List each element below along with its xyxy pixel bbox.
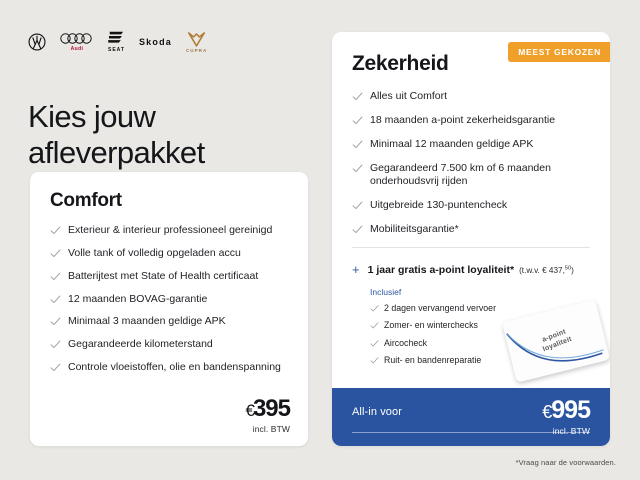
list-item-label: Gegarandeerd 7.500 km of 6 maanden onder… xyxy=(370,162,590,190)
list-item-label: Volle tank of volledig opgeladen accu xyxy=(68,247,241,261)
card-divider xyxy=(352,247,590,248)
zekerheid-price: €995 xyxy=(542,398,590,423)
zekerheid-currency-symbol: € xyxy=(542,402,551,422)
list-item: 18 maanden a-point zekerheidsgarantie xyxy=(352,114,590,128)
check-icon xyxy=(352,224,362,234)
check-icon xyxy=(352,139,362,149)
loyalty-value: (t.w.v. € 437,50) xyxy=(519,266,574,275)
cupra-wordmark: CUPRA xyxy=(186,48,207,53)
check-icon xyxy=(50,294,60,304)
loyalty-value-prefix: (t.w.v. € 437, xyxy=(519,266,565,275)
comfort-title: Comfort xyxy=(50,190,288,212)
brand-logo-cupra: CUPRA xyxy=(186,32,207,53)
list-item: Minimaal 12 maanden geldige APK xyxy=(352,138,590,152)
check-icon xyxy=(370,321,378,329)
list-item: Volle tank of volledig opgeladen accu xyxy=(50,247,288,261)
package-card-comfort[interactable]: Comfort Exterieur & interieur profession… xyxy=(30,172,308,446)
loyalty-included-label: Inclusief xyxy=(370,287,590,297)
loyalty-addon-row: + 1 jaar gratis a-point loyaliteit*(t.w.… xyxy=(332,260,610,278)
audi-rings-logo xyxy=(60,32,94,45)
allin-label: All-in voor xyxy=(352,406,402,418)
list-item-label: Zomer- en winterchecks xyxy=(384,320,478,331)
list-item: Minimaal 3 maanden geldige APK xyxy=(50,315,288,329)
audi-wordmark: Audi xyxy=(71,46,84,52)
comfort-card-body: Comfort Exterieur & interieur profession… xyxy=(30,172,308,375)
list-item-label: Ruit- en bandenreparatie xyxy=(384,355,481,366)
list-item-label: Mobiliteitsgarantie* xyxy=(370,223,459,237)
list-item: 12 maanden BOVAG-garantie xyxy=(50,293,288,307)
comfort-vat-note: incl. BTW xyxy=(245,424,290,434)
check-icon xyxy=(50,225,60,235)
check-icon xyxy=(352,163,362,173)
check-icon xyxy=(370,339,378,347)
package-card-zekerheid[interactable]: MEEST GEKOZEN Zekerheid Alles uit Comfor… xyxy=(332,32,610,446)
list-item: Ruit- en bandenreparatie xyxy=(370,355,590,366)
list-item: Alles uit Comfort xyxy=(352,90,590,104)
list-item: Gegarandeerd 7.500 km of 6 maanden onder… xyxy=(352,162,590,190)
list-item-label: Aircocheck xyxy=(384,338,427,349)
list-item-label: 12 maanden BOVAG-garantie xyxy=(68,293,207,307)
loyalty-title: 1 jaar gratis a-point loyaliteit* xyxy=(368,264,514,276)
check-icon xyxy=(50,362,60,372)
comfort-price: €395 xyxy=(245,397,290,421)
list-item: Mobiliteitsgarantie* xyxy=(352,223,590,237)
list-item: 2 dagen vervangend vervoer xyxy=(370,303,590,314)
list-item: Exterieur & interieur professioneel gere… xyxy=(50,224,288,238)
list-item: Aircocheck xyxy=(370,338,590,349)
brand-logo-audi: Audi xyxy=(60,32,94,52)
list-item-label: Alles uit Comfort xyxy=(370,90,447,104)
comfort-price-value: 395 xyxy=(253,395,290,422)
check-icon xyxy=(50,316,60,326)
check-icon xyxy=(370,304,378,312)
delivery-package-page: Audi SEAT Skoda xyxy=(0,0,640,480)
check-icon xyxy=(352,115,362,125)
check-icon xyxy=(50,271,60,281)
list-item: Batterijtest met State of Health certifi… xyxy=(50,270,288,284)
list-item: Gegarandeerde kilometerstand xyxy=(50,338,288,352)
list-item-label: 2 dagen vervangend vervoer xyxy=(384,303,496,314)
zekerheid-price-block: €995 incl. BTW xyxy=(542,398,590,436)
check-icon xyxy=(352,91,362,101)
list-item: Uitgebreide 130-puntencheck xyxy=(352,199,590,213)
status-badge-meest-gekozen: MEEST GEKOZEN xyxy=(508,42,610,62)
seat-s-logo xyxy=(108,31,124,46)
loyalty-addon-text: 1 jaar gratis a-point loyaliteit*(t.w.v.… xyxy=(368,260,574,278)
list-item-label: Batterijtest met State of Health certifi… xyxy=(68,270,258,284)
loyalty-included-block: Inclusief 2 dagen vervangend vervoerZome… xyxy=(332,278,610,367)
loyalty-value-suffix: ) xyxy=(571,266,574,275)
list-item-label: Gegarandeerde kilometerstand xyxy=(68,338,213,352)
skoda-wordmark-logo: Skoda xyxy=(139,37,172,47)
seat-wordmark: SEAT xyxy=(108,47,125,53)
list-item-label: Uitgebreide 130-puntencheck xyxy=(370,199,507,213)
check-icon xyxy=(50,339,60,349)
list-item-label: Minimaal 12 maanden geldige APK xyxy=(370,138,533,152)
cupra-logo xyxy=(188,32,205,47)
allin-price-bar: All-in voor €995 incl. BTW xyxy=(332,388,610,446)
footnote-terms: *Vraag naar de voorwaarden. xyxy=(516,458,616,467)
comfort-feature-list: Exterieur & interieur professioneel gere… xyxy=(50,224,288,375)
brand-logo-volkswagen xyxy=(28,33,46,51)
check-icon xyxy=(370,356,378,364)
plus-icon: + xyxy=(352,263,360,276)
zekerheid-price-value: 995 xyxy=(551,396,590,424)
list-item-label: Exterieur & interieur professioneel gere… xyxy=(68,224,272,238)
list-item: Zomer- en winterchecks xyxy=(370,320,590,331)
list-item-label: 18 maanden a-point zekerheidsgarantie xyxy=(370,114,555,128)
zekerheid-vat-note: incl. BTW xyxy=(542,426,590,436)
vw-logo xyxy=(28,33,46,51)
list-item-label: Minimaal 3 maanden geldige APK xyxy=(68,315,226,329)
loyalty-included-list: 2 dagen vervangend vervoerZomer- en wint… xyxy=(370,303,590,367)
list-item-label: Controle vloeistoffen, olie en bandenspa… xyxy=(68,361,281,375)
brand-logo-seat: SEAT xyxy=(108,31,125,53)
brand-logo-skoda: Skoda xyxy=(139,37,172,47)
list-item: Controle vloeistoffen, olie en bandenspa… xyxy=(50,361,288,375)
comfort-price-block: €395 incl. BTW xyxy=(245,397,290,434)
check-icon xyxy=(50,248,60,258)
zekerheid-feature-list: Alles uit Comfort18 maanden a-point zeke… xyxy=(352,90,590,237)
brand-logo-strip: Audi SEAT Skoda xyxy=(28,28,207,56)
zekerheid-card-body: Zekerheid Alles uit Comfort18 maanden a-… xyxy=(332,32,610,237)
page-title: Kies jouw afleverpakket xyxy=(28,99,328,172)
check-icon xyxy=(352,200,362,210)
